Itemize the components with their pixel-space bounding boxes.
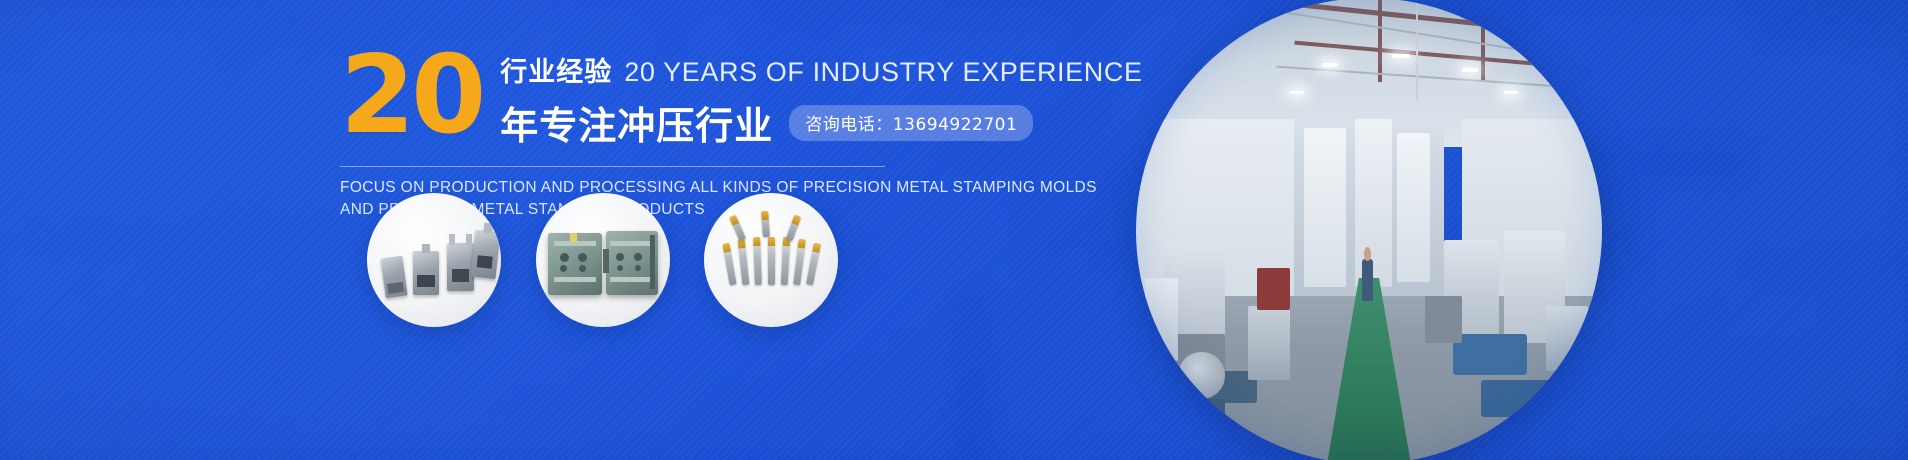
- headline-cn-industry: 年专注冲压行业: [500, 95, 773, 150]
- headline-text-group: 行业经验 20 YEARS OF INDUSTRY EXPERIENCE 年专注…: [500, 44, 1142, 150]
- product-circle-terminal-pins[interactable]: [704, 193, 838, 327]
- years-number: 20: [340, 46, 482, 145]
- headline-row: 20 行业经验 20 YEARS OF INDUSTRY EXPERIENCE …: [340, 44, 1100, 150]
- headline-cn-experience: 行业经验: [500, 50, 612, 89]
- headline-block: 20 行业经验 20 YEARS OF INDUSTRY EXPERIENCE …: [340, 44, 1100, 221]
- product-circle-stamping-mold[interactable]: [536, 193, 670, 327]
- headline-en-experience: 20 YEARS OF INDUSTRY EXPERIENCE: [624, 57, 1142, 88]
- headline-divider: [340, 166, 885, 167]
- phone-badge[interactable]: 咨询电话：13694922701: [789, 105, 1033, 141]
- headline-line-1: 行业经验 20 YEARS OF INDUSTRY EXPERIENCE: [500, 50, 1142, 89]
- headline-line-2: 年专注冲压行业 咨询电话：13694922701: [500, 95, 1142, 150]
- factory-workshop-photo[interactable]: [1136, 0, 1602, 460]
- promo-banner: 20 行业经验 20 YEARS OF INDUSTRY EXPERIENCE …: [0, 0, 1908, 460]
- product-circle-connectors[interactable]: [367, 193, 501, 327]
